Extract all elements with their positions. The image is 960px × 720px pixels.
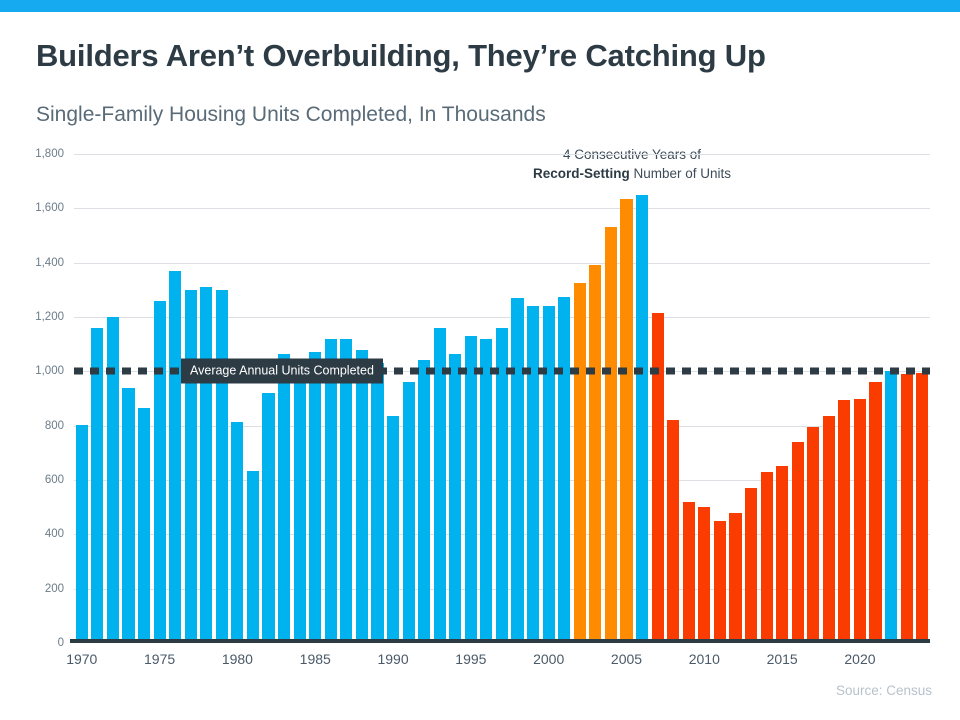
bar: [620, 199, 632, 643]
bar: [496, 328, 508, 643]
bar: [294, 365, 306, 643]
bar: [885, 371, 897, 643]
bar: [745, 488, 757, 643]
y-axis-tick-label: 1,600: [4, 202, 64, 214]
bar: [356, 350, 368, 643]
bar: [403, 382, 415, 643]
gridline: [74, 263, 930, 264]
bar: [169, 271, 181, 643]
y-axis-tick-label: 1,000: [4, 365, 64, 377]
page-title: Builders Aren’t Overbuilding, They’re Ca…: [36, 38, 766, 74]
bar: [122, 388, 134, 643]
x-axis-tick-label: 1970: [66, 651, 97, 667]
chart-page: Builders Aren’t Overbuilding, They’re Ca…: [0, 0, 960, 720]
top-accent-bar: [0, 0, 960, 12]
y-axis-tick-label: 800: [4, 420, 64, 432]
bar: [465, 336, 477, 643]
y-axis-tick-label: 0: [4, 637, 64, 649]
bar: [231, 422, 243, 643]
x-axis-tick-label: 2000: [533, 651, 564, 667]
x-axis-line: [70, 639, 930, 643]
bar: [185, 290, 197, 643]
average-line-label: Average Annual Units Completed: [181, 359, 383, 384]
bar: [761, 472, 773, 643]
plot-area: 02004006008001,0001,2001,4001,6001,800 A…: [74, 154, 930, 643]
bar: [714, 521, 726, 643]
chart-subtitle: Single-Family Housing Units Completed, I…: [36, 103, 546, 127]
x-axis-tick-label: 2020: [844, 651, 875, 667]
bar: [838, 400, 850, 643]
y-axis-tick-label: 600: [4, 474, 64, 486]
bar: [869, 382, 881, 643]
y-axis-tick-label: 1,200: [4, 311, 64, 323]
x-axis-tick-label: 1985: [300, 651, 331, 667]
bar: [325, 339, 337, 643]
y-axis-tick-label: 1,400: [4, 257, 64, 269]
y-axis-tick-label: 200: [4, 583, 64, 595]
x-axis-tick-label: 1980: [222, 651, 253, 667]
x-axis-tick-label: 2005: [611, 651, 642, 667]
bar: [76, 425, 88, 643]
bar: [278, 354, 290, 643]
bar: [262, 393, 274, 643]
bar: [418, 360, 430, 643]
x-axis-tick-label: 1975: [144, 651, 175, 667]
bar: [449, 354, 461, 643]
bar: [91, 328, 103, 643]
bar: [589, 265, 601, 643]
bar: [652, 313, 664, 643]
bar: [371, 363, 383, 643]
bar: [107, 317, 119, 643]
bar: [558, 297, 570, 643]
bar: [543, 306, 555, 643]
bar: [792, 442, 804, 643]
bar: [605, 227, 617, 643]
x-axis-tick-label: 1995: [455, 651, 486, 667]
y-axis-tick-label: 400: [4, 528, 64, 540]
bar: [683, 502, 695, 643]
x-axis-tick-label: 1990: [377, 651, 408, 667]
bar: [138, 408, 150, 643]
bar: [247, 471, 259, 644]
source-caption: Source: Census: [836, 683, 932, 698]
bar: [823, 416, 835, 643]
bar: [340, 339, 352, 643]
bar: [854, 399, 866, 644]
y-axis-tick-label: 1,800: [4, 148, 64, 160]
bar: [200, 287, 212, 643]
bar: [916, 373, 928, 643]
bar: [776, 466, 788, 643]
bar: [667, 420, 679, 643]
x-axis-tick-label: 2015: [767, 651, 798, 667]
bar: [729, 513, 741, 643]
bar: [511, 298, 523, 643]
x-axis-tick-label: 2010: [689, 651, 720, 667]
bar: [309, 352, 321, 643]
bar: [574, 283, 586, 643]
bar: [387, 416, 399, 643]
bar: [698, 507, 710, 643]
bar: [807, 427, 819, 643]
bar: [901, 374, 913, 643]
gridline: [74, 154, 930, 155]
bar: [154, 301, 166, 643]
bar: [636, 195, 648, 643]
bar: [480, 339, 492, 643]
bar: [527, 306, 539, 643]
bar: [434, 328, 446, 643]
gridline: [74, 208, 930, 209]
bar: [216, 290, 228, 643]
